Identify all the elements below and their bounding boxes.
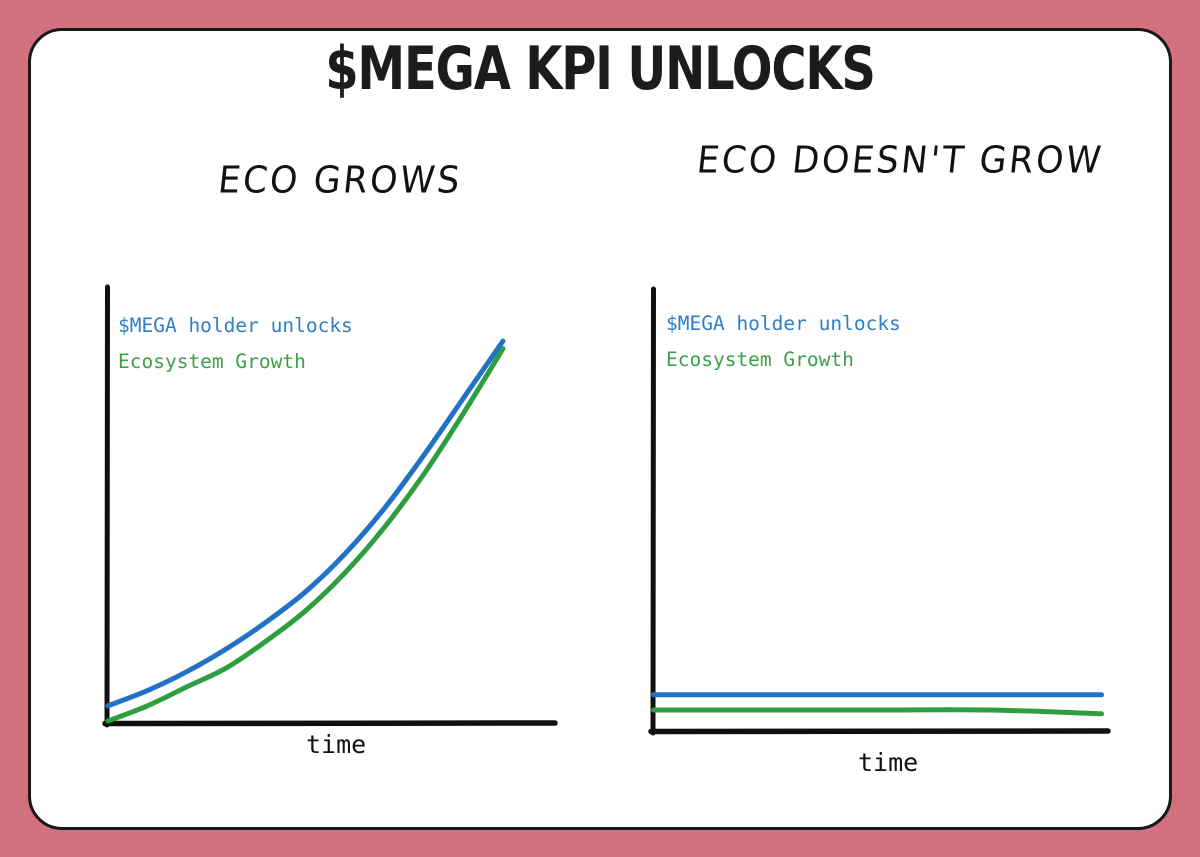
page-title: $MEGA KPI UNLOCKS	[120, 34, 1080, 104]
x-axis-right	[651, 731, 1108, 732]
y-axis-left	[107, 287, 108, 725]
x-axis-label-right: time	[858, 748, 918, 777]
legend-right: $MEGA holder unlocks Ecosystem Growth	[666, 306, 901, 378]
panel-heading-eco-doesnt-grow: ECO DOESN'T GROW	[688, 139, 1113, 185]
panel-heading-eco-grows: ECO GROWS	[138, 159, 543, 205]
legend-item-unlocks-right: $MEGA holder unlocks	[666, 306, 901, 342]
legend-left: $MEGA holder unlocks Ecosystem Growth	[118, 308, 353, 380]
legend-item-growth-right: Ecosystem Growth	[666, 342, 901, 378]
x-axis-left	[105, 723, 555, 724]
legend-item-unlocks-left: $MEGA holder unlocks	[118, 308, 353, 344]
line-growth-left	[108, 349, 503, 721]
x-axis-label-left: time	[306, 730, 366, 759]
legend-item-growth-left: Ecosystem Growth	[118, 344, 353, 380]
slide-root: $MEGA KPI UNLOCKS ECO GROWS $MEGA holder…	[0, 0, 1200, 857]
line-growth-right	[654, 710, 1102, 714]
line-unlocks-left	[108, 341, 503, 706]
y-axis-right	[653, 289, 654, 733]
